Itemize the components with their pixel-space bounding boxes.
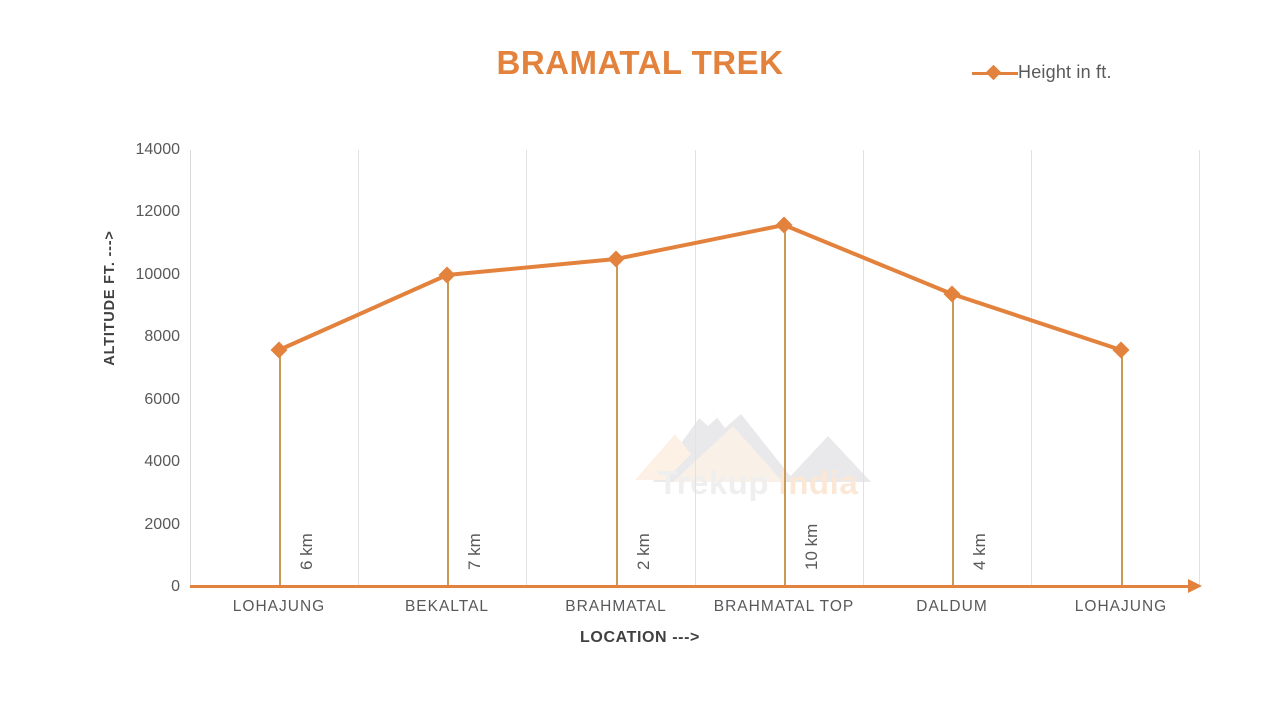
dropline-bekaltal [447, 275, 449, 586]
legend-marker-icon [972, 66, 1018, 80]
x-tick-brahmatal-top: BRAHMATAL TOP [714, 598, 854, 616]
y-tick-12000: 12000 [118, 203, 180, 221]
x-tick-brahmatal: BRAHMATAL [565, 598, 666, 616]
y-tick-4000: 4000 [118, 453, 180, 471]
x-tick-lohajung-1: LOHAJUNG [233, 598, 325, 616]
y-tick-8000: 8000 [118, 328, 180, 346]
x-tick-bekaltal: BEKALTAL [405, 598, 489, 616]
y-axis-title: ALTITUDE FT. ---> [102, 178, 118, 418]
legend-label-height: Height in ft. [1018, 62, 1112, 83]
x-tick-lohajung-2: LOHAJUNG [1075, 598, 1167, 616]
dropline-brahmatal-top [784, 225, 786, 586]
gridline-1 [358, 150, 359, 587]
dropline-daldum [952, 294, 954, 586]
gridline-4 [863, 150, 864, 587]
x-axis-arrow-icon [1188, 579, 1202, 593]
chart-legend[interactable]: Height in ft. [972, 62, 1112, 83]
distance-label-1: 6 km [297, 533, 317, 570]
dropline-lohajung-1 [279, 350, 281, 586]
y-tick-6000: 6000 [118, 391, 180, 409]
gridline-6 [1199, 150, 1200, 587]
gridline-2 [526, 150, 527, 587]
y-tick-10000: 10000 [118, 266, 180, 284]
dropline-brahmatal [616, 259, 618, 586]
x-tick-daldum: DALDUM [916, 598, 987, 616]
chart-container: BRAMATAL TREK Height in ft. Trekup India [0, 0, 1280, 720]
distance-label-3: 2 km [634, 533, 654, 570]
dropline-lohajung-2 [1121, 350, 1123, 586]
gridline-3 [695, 150, 696, 587]
y-tick-2000: 2000 [118, 516, 180, 534]
x-axis-line [190, 585, 1190, 588]
x-axis-title: LOCATION ---> [0, 629, 1280, 647]
gridline-5 [1031, 150, 1032, 587]
distance-label-4: 10 km [802, 524, 822, 570]
plot-area [190, 150, 1200, 587]
distance-label-5: 4 km [970, 533, 990, 570]
distance-label-2: 7 km [465, 533, 485, 570]
y-axis-ticks: 0 2000 4000 6000 8000 10000 12000 14000 [110, 150, 180, 587]
y-tick-0: 0 [118, 578, 180, 596]
y-tick-14000: 14000 [118, 141, 180, 159]
